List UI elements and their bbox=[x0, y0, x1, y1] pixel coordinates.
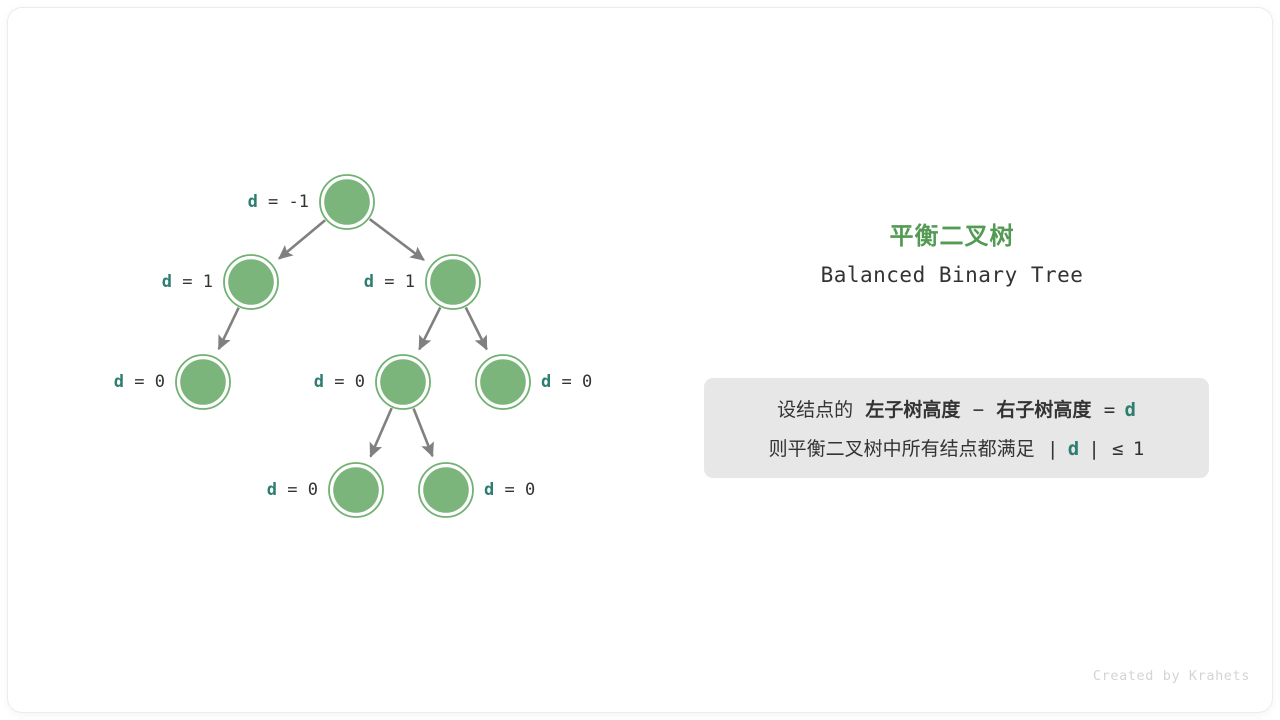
tree-node-fill bbox=[228, 259, 274, 305]
node-balance-label: d = 0 bbox=[484, 482, 535, 499]
abs-bar-open: | bbox=[1047, 438, 1058, 460]
balance-factor-symbol: d bbox=[1124, 399, 1135, 421]
diagram-card: d = -1d = 1d = 1d = 0d = 0d = 0d = 0d = … bbox=[8, 8, 1272, 712]
tree-edge bbox=[279, 220, 325, 258]
tree-edge bbox=[219, 308, 239, 349]
definition-line-1: 设结点的 左子树高度 − 右子树高度 = d bbox=[704, 395, 1209, 422]
node-balance-label: d = 0 bbox=[541, 374, 592, 391]
node-balance-value: = 1 bbox=[172, 272, 213, 292]
tree-edge bbox=[419, 307, 440, 349]
node-balance-value: = 0 bbox=[494, 480, 535, 500]
tree-node-fill bbox=[423, 467, 469, 513]
tree-edges bbox=[219, 219, 487, 456]
tree-node bbox=[176, 355, 230, 409]
tree-node-fill bbox=[480, 359, 526, 405]
node-balance-label: d = -1 bbox=[248, 194, 309, 211]
tree-node bbox=[419, 463, 473, 517]
balance-factor-symbol-abs: d bbox=[1068, 438, 1079, 460]
node-balance-symbol: d bbox=[314, 372, 324, 392]
definition-prefix: 设结点的 bbox=[777, 400, 853, 421]
watermark-credit: Created by Krahets bbox=[1093, 668, 1250, 684]
tree-edge bbox=[371, 408, 392, 456]
tree-edge bbox=[466, 307, 487, 349]
tree-node-fill bbox=[180, 359, 226, 405]
abs-bar-close: | bbox=[1088, 438, 1099, 460]
tree-node-fill bbox=[380, 359, 426, 405]
node-balance-symbol: d bbox=[541, 372, 551, 392]
tree-node bbox=[426, 255, 480, 309]
tree-node-fill bbox=[333, 467, 379, 513]
node-balance-value: = 1 bbox=[374, 272, 415, 292]
node-balance-value: = 0 bbox=[277, 480, 318, 500]
node-balance-symbol: d bbox=[267, 480, 277, 500]
page-subtitle: Balanced Binary Tree bbox=[696, 258, 1208, 292]
tree-edge bbox=[414, 408, 433, 456]
tree-node bbox=[476, 355, 530, 409]
condition-prefix: 则平衡二叉树中所有结点都满足 bbox=[769, 439, 1035, 460]
less-equal-operator: ≤ bbox=[1112, 438, 1123, 460]
tree-node-fill bbox=[324, 179, 370, 225]
diagram-stage: d = -1d = 1d = 1d = 0d = 0d = 0d = 0d = … bbox=[8, 8, 1272, 712]
node-balance-label: d = 1 bbox=[364, 274, 415, 291]
tree-node bbox=[376, 355, 430, 409]
page-title: 平衡二叉树 bbox=[696, 220, 1208, 254]
definition-left-subtree-height: 左子树高度 bbox=[865, 400, 960, 421]
info-panel: 平衡二叉树 Balanced Binary Tree bbox=[696, 220, 1208, 292]
definition-right-subtree-height: 右子树高度 bbox=[996, 400, 1091, 421]
tree-node bbox=[329, 463, 383, 517]
node-balance-label: d = 0 bbox=[267, 482, 318, 499]
node-balance-symbol: d bbox=[114, 372, 124, 392]
node-balance-value: = 0 bbox=[551, 372, 592, 392]
node-balance-value: = -1 bbox=[258, 192, 309, 212]
node-balance-value: = 0 bbox=[324, 372, 365, 392]
node-balance-label: d = 1 bbox=[162, 274, 213, 291]
node-balance-label: d = 0 bbox=[114, 374, 165, 391]
tree-node bbox=[320, 175, 374, 229]
definition-line-2: 则平衡二叉树中所有结点都满足 | d | ≤ 1 bbox=[704, 434, 1209, 461]
node-balance-symbol: d bbox=[484, 480, 494, 500]
tree-node bbox=[224, 255, 278, 309]
definition-box: 设结点的 左子树高度 − 右子树高度 = d 则平衡二叉树中所有结点都满足 | … bbox=[704, 378, 1209, 478]
tree-nodes bbox=[176, 175, 530, 517]
node-balance-symbol: d bbox=[364, 272, 374, 292]
node-balance-label: d = 0 bbox=[314, 374, 365, 391]
node-balance-value: = 0 bbox=[124, 372, 165, 392]
minus-operator: − bbox=[973, 399, 984, 421]
equals-operator: = bbox=[1104, 399, 1115, 421]
node-balance-symbol: d bbox=[248, 192, 258, 212]
binary-tree-graphic bbox=[8, 8, 1272, 712]
tree-edge bbox=[370, 219, 424, 260]
condition-value: 1 bbox=[1133, 438, 1144, 460]
tree-node-fill bbox=[430, 259, 476, 305]
node-balance-symbol: d bbox=[162, 272, 172, 292]
